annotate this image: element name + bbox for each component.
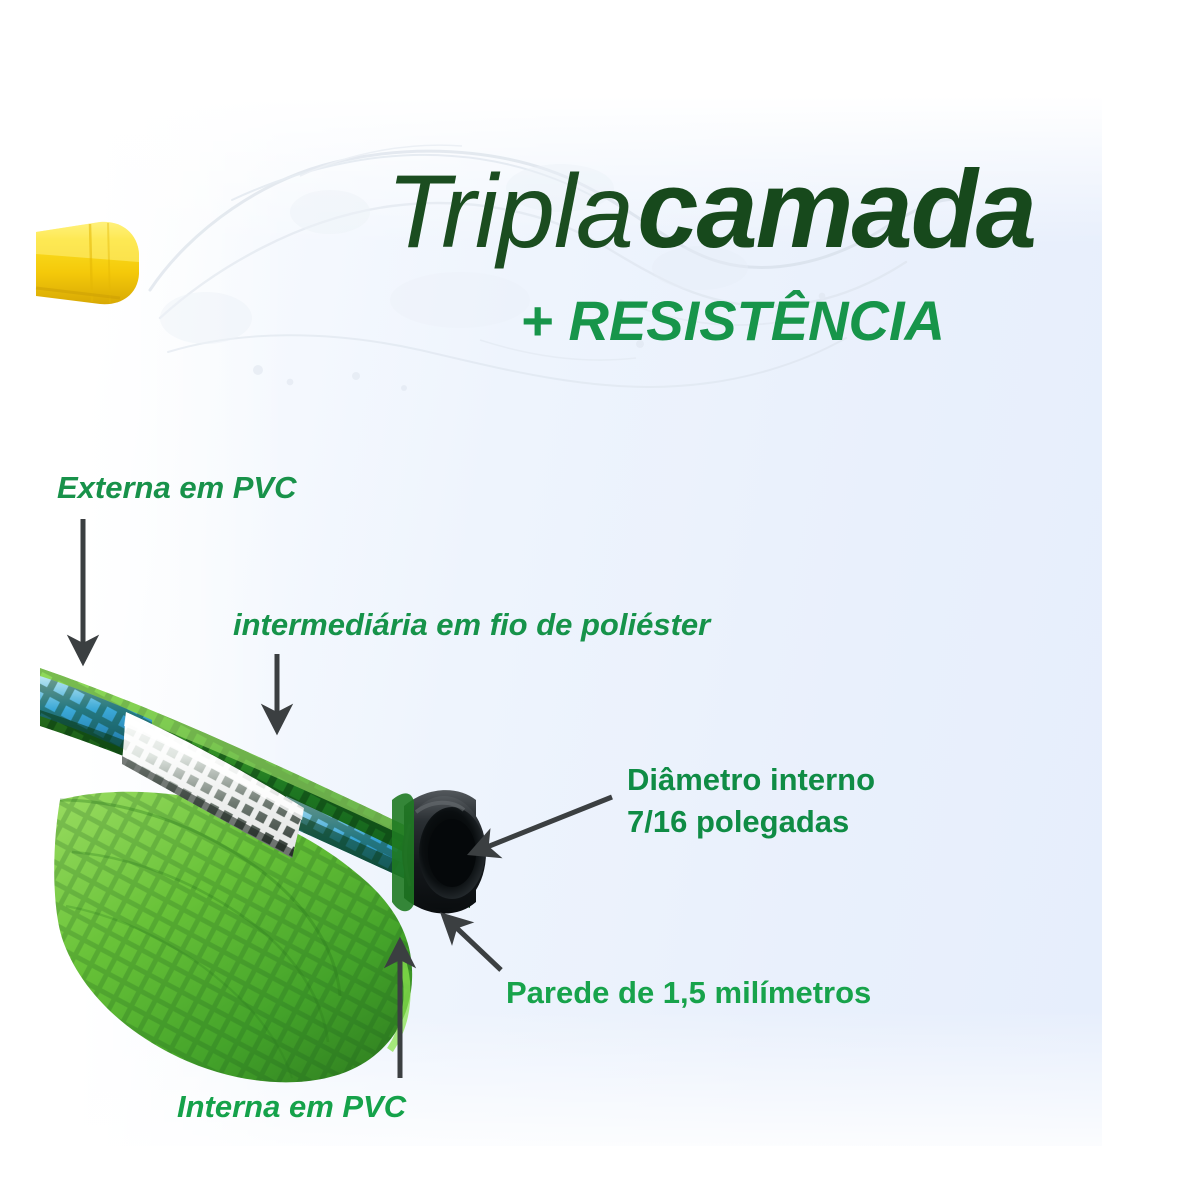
headline-word-camada: camada [637, 148, 1035, 271]
callout-label-diametro-line1: Diâmetro interno [627, 759, 875, 801]
callout-label-externa: Externa em PVC [57, 470, 297, 506]
headline-word-tripla: Tripla [386, 154, 632, 270]
headline-subline: + RESISTÊNCIA [0, 288, 945, 353]
callout-label-interna: Interna em PVC [177, 1089, 406, 1125]
infographic-canvas: Tripla camada + RESISTÊNCIA Externa em P… [0, 0, 1190, 1200]
callout-label-diametro-line2: 7/16 polegadas [627, 801, 875, 843]
callout-label-intermediaria: intermediária em fio de poliéster [233, 607, 710, 643]
black-rubber-cuff-art [402, 790, 486, 913]
headline: Tripla camada [0, 155, 1035, 265]
triple-layer-hose-art [40, 668, 486, 1082]
callout-label-diametro: Diâmetro interno 7/16 polegadas [627, 759, 875, 842]
callout-label-parede: Parede de 1,5 milímetros [506, 975, 871, 1011]
